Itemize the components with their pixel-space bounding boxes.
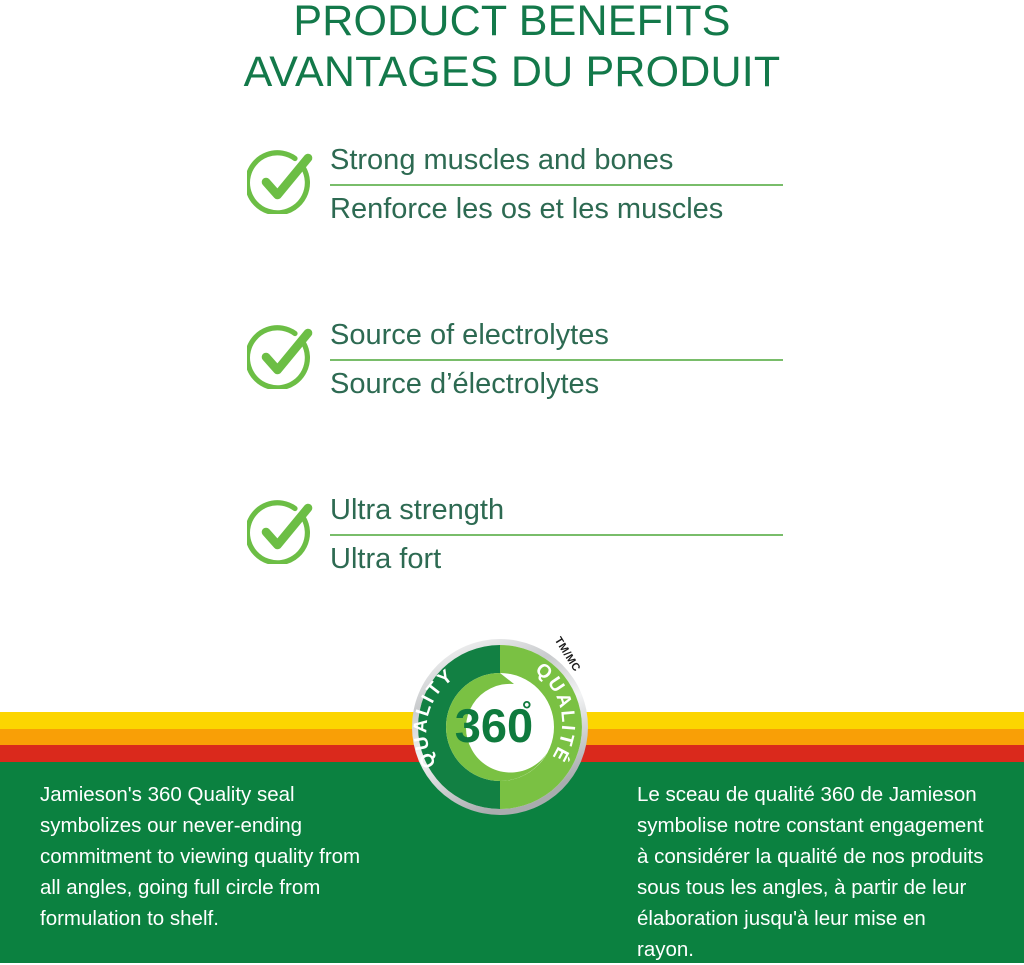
page-title-en: PRODUCT BENEFITS <box>0 0 1024 47</box>
benefit-label-en: Ultra strength <box>330 490 785 530</box>
benefit-label-fr: Ultra fort <box>330 539 785 579</box>
benefits-list: Strong muscles and bones Renforce les os… <box>0 140 1024 665</box>
benefit-text-group: Source of electrolytes Source d’électrol… <box>330 315 785 404</box>
check-circle-icon <box>247 146 315 214</box>
check-circle-icon <box>247 496 315 564</box>
benefit-label-en: Strong muscles and bones <box>330 140 785 180</box>
check-circle-icon <box>247 321 315 389</box>
benefit-label-fr: Source d’électrolytes <box>330 364 785 404</box>
benefit-item: Strong muscles and bones Renforce les os… <box>0 140 1024 315</box>
page-title-fr: AVANTAGES DU PRODUIT <box>0 47 1024 98</box>
benefit-label-fr: Renforce les os et les muscles <box>330 189 785 229</box>
benefit-text-group: Ultra strength Ultra fort <box>330 490 785 579</box>
footer-text-en: Jamieson's 360 Quality seal symbolizes o… <box>40 779 380 934</box>
benefit-item: Source of electrolytes Source d’électrol… <box>0 315 1024 490</box>
page-title: PRODUCT BENEFITS AVANTAGES DU PRODUIT <box>0 0 1024 98</box>
benefit-text-group: Strong muscles and bones Renforce les os… <box>330 140 785 229</box>
seal-center-degree: ° <box>522 697 532 724</box>
benefit-divider <box>330 534 783 536</box>
benefit-divider <box>330 184 783 186</box>
footer-text-fr: Le sceau de qualité 360 de Jamieson symb… <box>637 779 987 965</box>
benefit-label-en: Source of electrolytes <box>330 315 785 355</box>
quality-360-seal-icon: QUALITY QUALITÉ 360 ° TM/MC <box>410 638 600 816</box>
benefit-divider <box>330 359 783 361</box>
